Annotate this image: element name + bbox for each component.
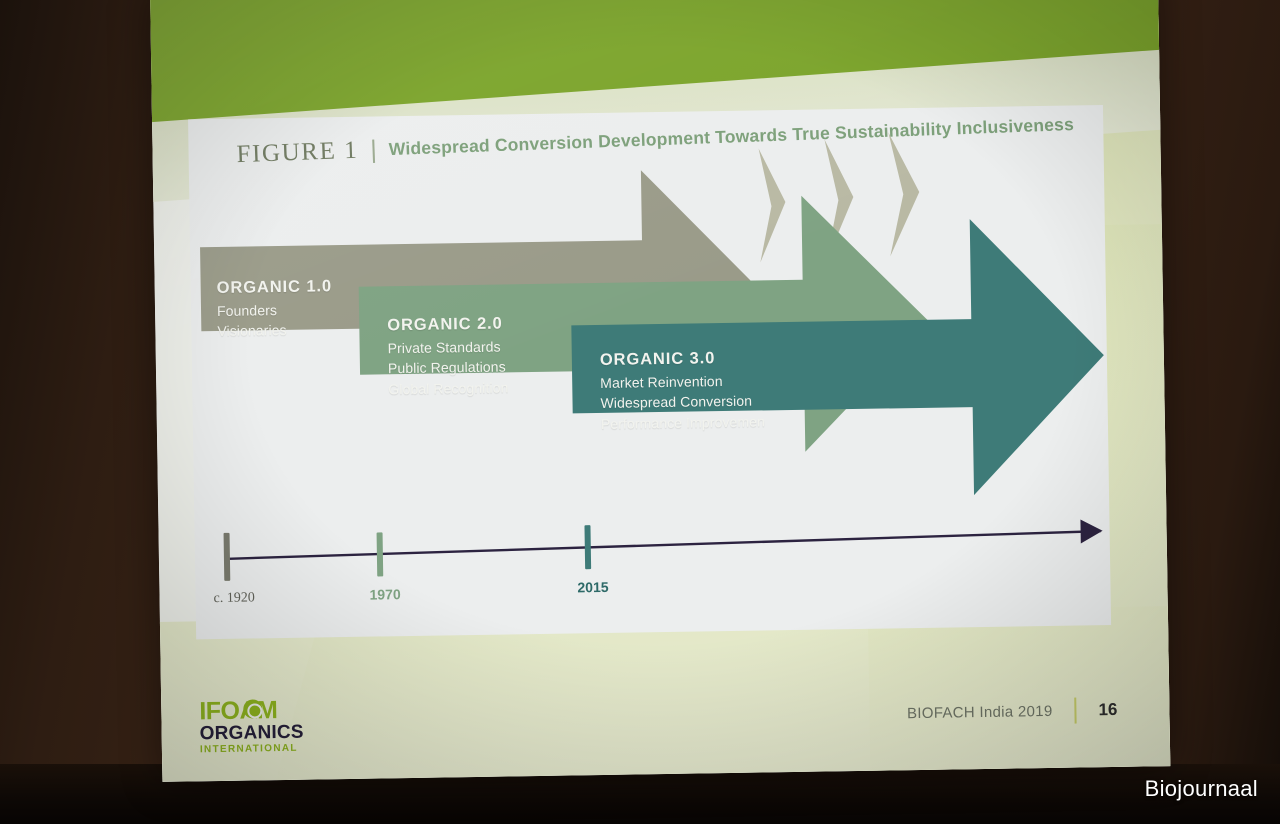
slide-footer: IFOAM ORGANICS INTERNATIONAL BIOFACH Ind… xyxy=(161,646,1171,782)
footer-event-name: BIOFACH India 2019 xyxy=(907,702,1053,721)
timeline-label-2: 2015 xyxy=(577,579,608,595)
timeline-tick-2 xyxy=(584,525,591,569)
figure-panel: FIGURE 1|Widespread Conversion Developme… xyxy=(188,105,1111,639)
timeline-tick-0 xyxy=(224,533,231,581)
globe-icon xyxy=(243,699,262,718)
timeline-arrowhead xyxy=(1080,519,1102,543)
footer-page-number: 16 xyxy=(1098,700,1117,720)
footer-divider xyxy=(1074,698,1076,724)
timeline: c. 1920 1970 2015 xyxy=(188,105,1111,639)
logo-line-organics: ORGANICS xyxy=(200,723,308,745)
watermark: Biojournaal xyxy=(1145,776,1258,802)
timeline-label-0: c. 1920 xyxy=(213,590,254,607)
timeline-tick-1 xyxy=(377,532,384,576)
timeline-label-1: 1970 xyxy=(369,586,400,602)
ifoam-logo: IFOAM ORGANICS INTERNATIONAL xyxy=(199,698,308,756)
logo-line-international: INTERNATIONAL xyxy=(200,743,308,756)
timeline-axis xyxy=(225,531,1101,559)
projection-screen: FIGURE 1|Widespread Conversion Developme… xyxy=(150,0,1170,790)
footer-right: BIOFACH India 2019 16 xyxy=(907,697,1118,726)
photo-of-projected-slide: FIGURE 1|Widespread Conversion Developme… xyxy=(0,0,1280,824)
